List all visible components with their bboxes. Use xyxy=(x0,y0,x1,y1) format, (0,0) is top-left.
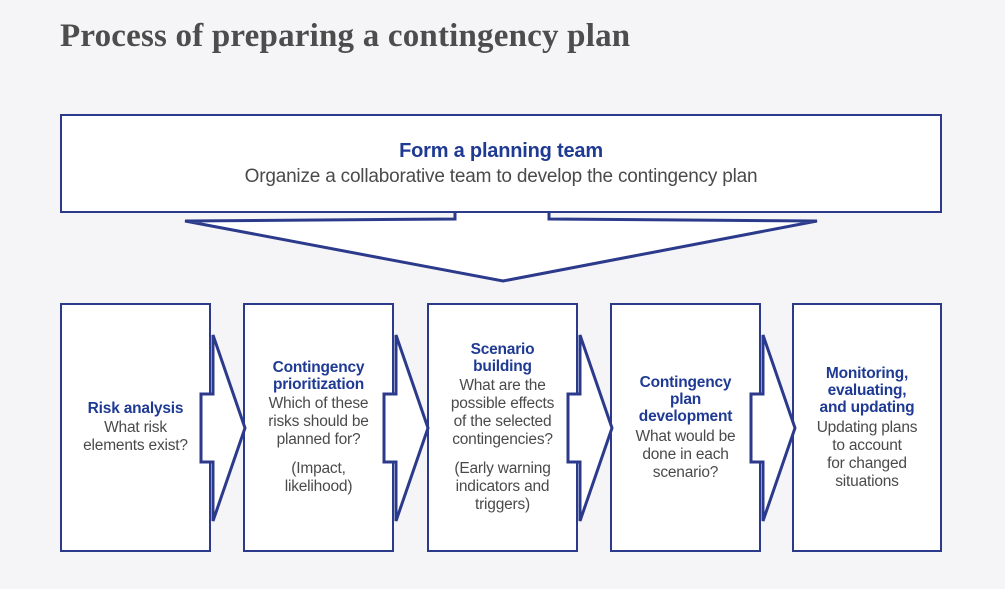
step-body: What are the possible effects of the sel… xyxy=(451,377,554,449)
step-note: (Impact, likelihood) xyxy=(285,460,353,496)
step-note: (Early warning indicators and triggers) xyxy=(454,460,550,514)
step-title: Risk analysis xyxy=(88,400,184,417)
step-box-monitoring-evaluating-updating: Monitoring, evaluating, and updating Upd… xyxy=(792,303,942,552)
diagram-canvas: Process of preparing a contingency plan … xyxy=(0,0,1005,589)
step-title: Monitoring, evaluating, and updating xyxy=(820,365,915,417)
step-title: Contingency plan development xyxy=(639,374,732,426)
step-box-contingency-prioritization: Contingency prioritization Which of thes… xyxy=(243,303,394,552)
page-title: Process of preparing a contingency plan xyxy=(60,18,630,55)
form-planning-team-box: Form a planning team Organize a collabor… xyxy=(60,114,942,213)
step-title: Scenario building xyxy=(471,341,535,376)
step-box-scenario-building: Scenario building What are the possible … xyxy=(427,303,578,552)
top-box-description: Organize a collaborative team to develop… xyxy=(245,166,758,188)
top-box-heading: Form a planning team xyxy=(399,140,603,163)
step-body: What would be done in each scenario? xyxy=(636,428,736,482)
step-title: Contingency prioritization xyxy=(273,359,365,394)
step-box-contingency-plan-development: Contingency plan development What would … xyxy=(610,303,761,552)
step-box-risk-analysis: Risk analysis What risk elements exist? xyxy=(60,303,211,552)
step-body: Which of these risks should be planned f… xyxy=(268,395,368,449)
step-body: Updating plans to account for changed si… xyxy=(817,419,918,491)
step-body: What risk elements exist? xyxy=(83,419,188,455)
